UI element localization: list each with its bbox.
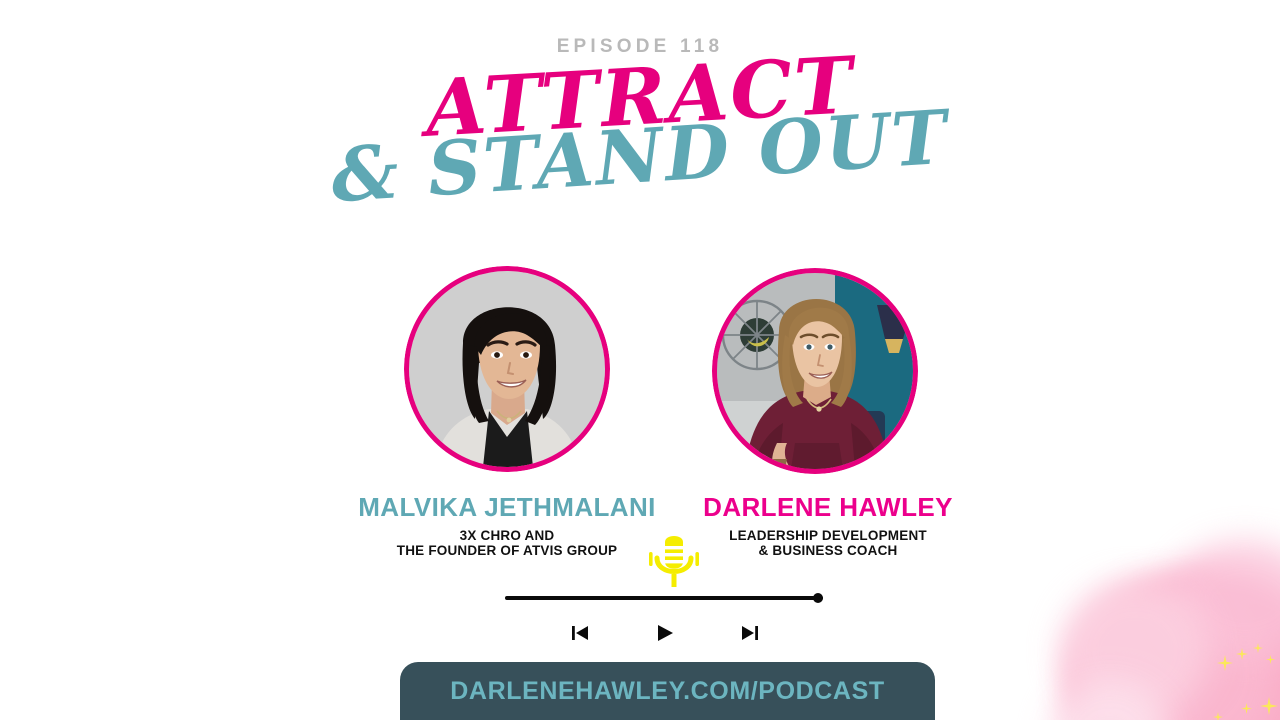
- progress-knob[interactable]: [813, 593, 823, 603]
- play-icon[interactable]: [650, 620, 680, 646]
- microphone-icon: [643, 528, 705, 590]
- podcast-url-bar[interactable]: DARLENEHAWLEY.COM/PODCAST: [400, 662, 935, 720]
- watercolor-blob: [1060, 580, 1210, 720]
- avatar: [717, 273, 913, 469]
- guest-photo-right: [712, 268, 918, 474]
- watercolor-blob: [1170, 540, 1280, 660]
- watercolor-blob: [1050, 680, 1170, 720]
- podcast-url-text: DARLENEHAWLEY.COM/PODCAST: [450, 677, 884, 706]
- sparkle-icon: [1241, 703, 1252, 714]
- playback-progress-bar[interactable]: [505, 594, 823, 602]
- avatar: [409, 271, 605, 467]
- next-track-icon[interactable]: [735, 620, 765, 646]
- watercolor-blob: [1070, 570, 1280, 720]
- player-controls: [565, 618, 765, 648]
- guest-photo-left: [404, 266, 610, 472]
- progress-track[interactable]: [505, 596, 823, 600]
- sparkle-icon: [1217, 655, 1233, 671]
- sparkle-icon: [1213, 712, 1223, 720]
- podcast-episode-graphic: EPISODE 118 ATTRACT & STAND OUT: [0, 0, 1280, 720]
- episode-title: ATTRACT & STAND OUT: [0, 52, 1280, 212]
- sparkle-icon: [1260, 697, 1278, 715]
- previous-track-icon[interactable]: [565, 620, 595, 646]
- guest-name-right: DARLENE HAWLEY: [618, 492, 1038, 523]
- sparkle-icon: [1236, 648, 1248, 660]
- sparkle-icon: [1266, 655, 1275, 664]
- sparkle-icon: [1253, 643, 1263, 653]
- watercolor-blob: [1070, 580, 1280, 720]
